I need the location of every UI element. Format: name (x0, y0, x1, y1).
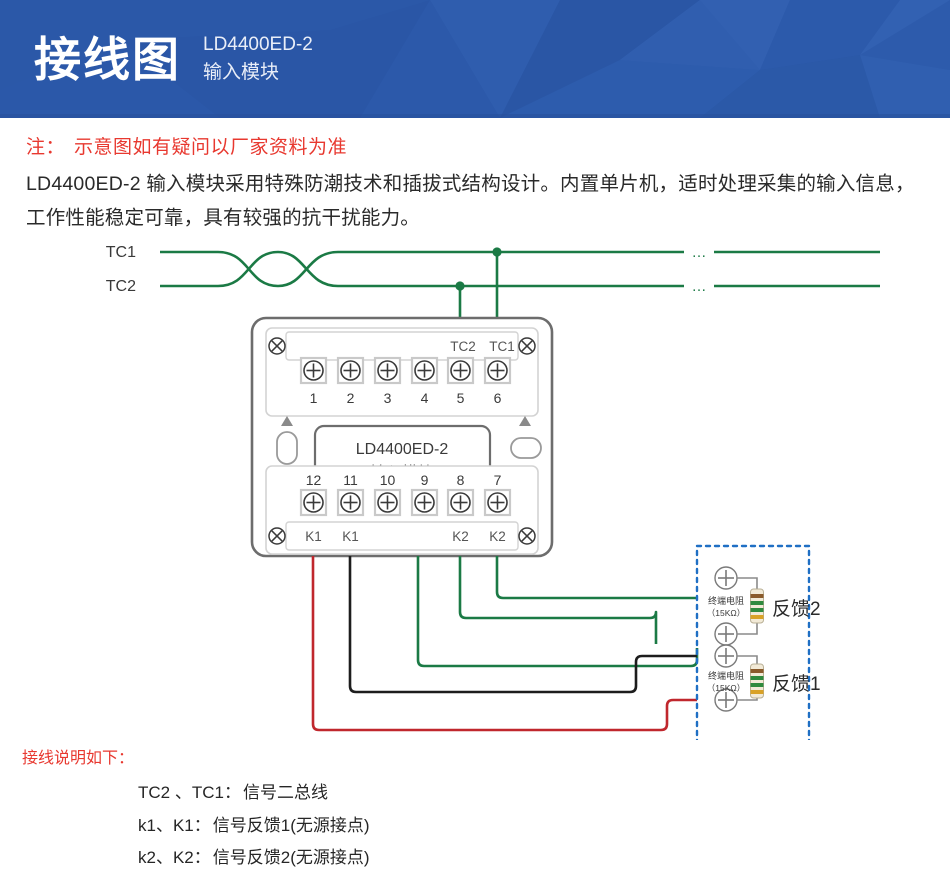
legend-value-k1: 信号反馈1(无源接点) (213, 816, 370, 835)
module-screw-top-left (269, 338, 285, 354)
page-header: 接线图 LD4400ED-2 输入模块 (0, 0, 950, 118)
page-title: 接线图 (34, 36, 181, 83)
terminal-number-12: 12 (306, 472, 322, 488)
legend-key-k2: k2、K2： (138, 848, 211, 867)
terminal-label-tc1: TC1 (489, 339, 515, 354)
wire-k2-top (497, 556, 697, 598)
wire-k1-bottom (313, 556, 697, 730)
feedback2-title: 反馈2 (772, 598, 821, 620)
module-screw-bottom-left (269, 528, 285, 544)
terminal-number-10: 10 (380, 472, 396, 488)
bus-junction-tc2 (455, 281, 464, 290)
legend-key-k1: k1、K1： (138, 816, 211, 835)
terminal-number-1: 1 (310, 390, 318, 406)
terminal-label-k1-a: K1 (305, 529, 322, 544)
wire-k2-bottom-seg (460, 556, 656, 644)
terminal-label-tc2: TC2 (450, 339, 476, 354)
feedback1-resistor (751, 664, 764, 698)
terminal-number-5: 5 (457, 390, 465, 406)
note-line: 注：示意图如有疑问以厂家资料为准 (26, 132, 924, 159)
legend-row-k2: k2、K2：信号反馈2(无源接点) (138, 842, 950, 875)
feedback2-resistor-label: 终端电阻 (708, 595, 744, 606)
bus-ellipsis-bottom: … (692, 278, 707, 295)
feedback2-resistor (751, 589, 764, 623)
legend-value-k2: 信号反馈2(无源接点) (213, 848, 370, 867)
feedback2-resistor-value: （15KΩ） (707, 608, 745, 618)
wiring-diagram: … … TC1 TC2 TC2 TC1 (0, 240, 950, 740)
feedback1-resistor-value: （15KΩ） (707, 683, 745, 693)
note-label: 注： (26, 137, 65, 158)
legend-title: 接线说明如下： (22, 744, 950, 768)
module-screw-bottom-right (519, 528, 535, 544)
terminal-number-8: 8 (457, 472, 465, 488)
legend-list: TC2 、TC1：信号二总线 k1、K1：信号反馈1(无源接点) k2、K2：信… (22, 777, 950, 875)
header-model: LD4400ED-2 (203, 31, 313, 59)
terminal-number-3: 3 (384, 390, 392, 406)
wiring-diagram-svg: … … TC1 TC2 TC2 TC1 (0, 240, 950, 740)
wire-k1-top (350, 556, 697, 692)
terminal-label-k2-b: K2 (489, 529, 506, 544)
module-screw-top-right (519, 338, 535, 354)
module-device: TC2 TC1 1 2 3 4 5 6 (252, 318, 552, 556)
bus-label-tc1: TC1 (106, 244, 136, 261)
intro-section: 注：示意图如有疑问以厂家资料为准 LD4400ED-2 输入模块采用特殊防潮技术… (0, 118, 950, 236)
header-subtitle: 输入模块 (203, 59, 313, 87)
feedback-dashed-box (697, 546, 809, 740)
terminal-number-9: 9 (421, 472, 429, 488)
legend-row-tc: TC2 、TC1：信号二总线 (138, 777, 950, 810)
terminal-number-2: 2 (347, 390, 355, 406)
terminal-label-k1-b: K1 (342, 529, 359, 544)
product-description: LD4400ED-2 输入模块采用特殊防潮技术和插拔式结构设计。内置单片机，适时… (26, 168, 924, 236)
terminal-label-k2-a: K2 (452, 529, 469, 544)
left-led-indicator (277, 432, 297, 464)
bus-junction-tc1 (492, 247, 501, 256)
terminal-number-6: 6 (494, 390, 502, 406)
header-content: 接线图 LD4400ED-2 输入模块 (0, 0, 950, 118)
bus-ellipsis-top: … (692, 244, 707, 261)
feedback1-title: 反馈1 (772, 673, 821, 695)
terminal-number-4: 4 (421, 390, 429, 406)
right-led-indicator (511, 438, 541, 458)
feedback1-resistor-label: 终端电阻 (708, 670, 744, 681)
module-model-text: LD4400ED-2 (356, 441, 449, 458)
feedback2-screw-top (715, 567, 737, 589)
note-text: 示意图如有疑问以厂家资料为准 (74, 137, 347, 158)
legend-value-tc: 信号二总线 (243, 783, 328, 802)
signal-bus-lines (160, 252, 880, 286)
feedback2-screw-bottom (715, 623, 737, 645)
feedback1-screw-top (715, 645, 737, 667)
feedback-circuit-1: 终端电阻 （15KΩ） 反馈1 (707, 645, 821, 711)
legend-section: 接线说明如下： TC2 、TC1：信号二总线 k1、K1：信号反馈1(无源接点)… (0, 744, 950, 875)
feedback-circuit-2: 终端电阻 （15KΩ） 反馈2 (707, 567, 821, 645)
terminal-number-11: 11 (343, 472, 358, 488)
terminal-number-7: 7 (494, 472, 502, 488)
legend-key-tc: TC2 、TC1： (138, 783, 241, 802)
bus-label-tc2: TC2 (106, 278, 136, 295)
header-subtitle-group: LD4400ED-2 输入模块 (203, 31, 313, 86)
legend-row-k1: k1、K1：信号反馈1(无源接点) (138, 810, 950, 843)
